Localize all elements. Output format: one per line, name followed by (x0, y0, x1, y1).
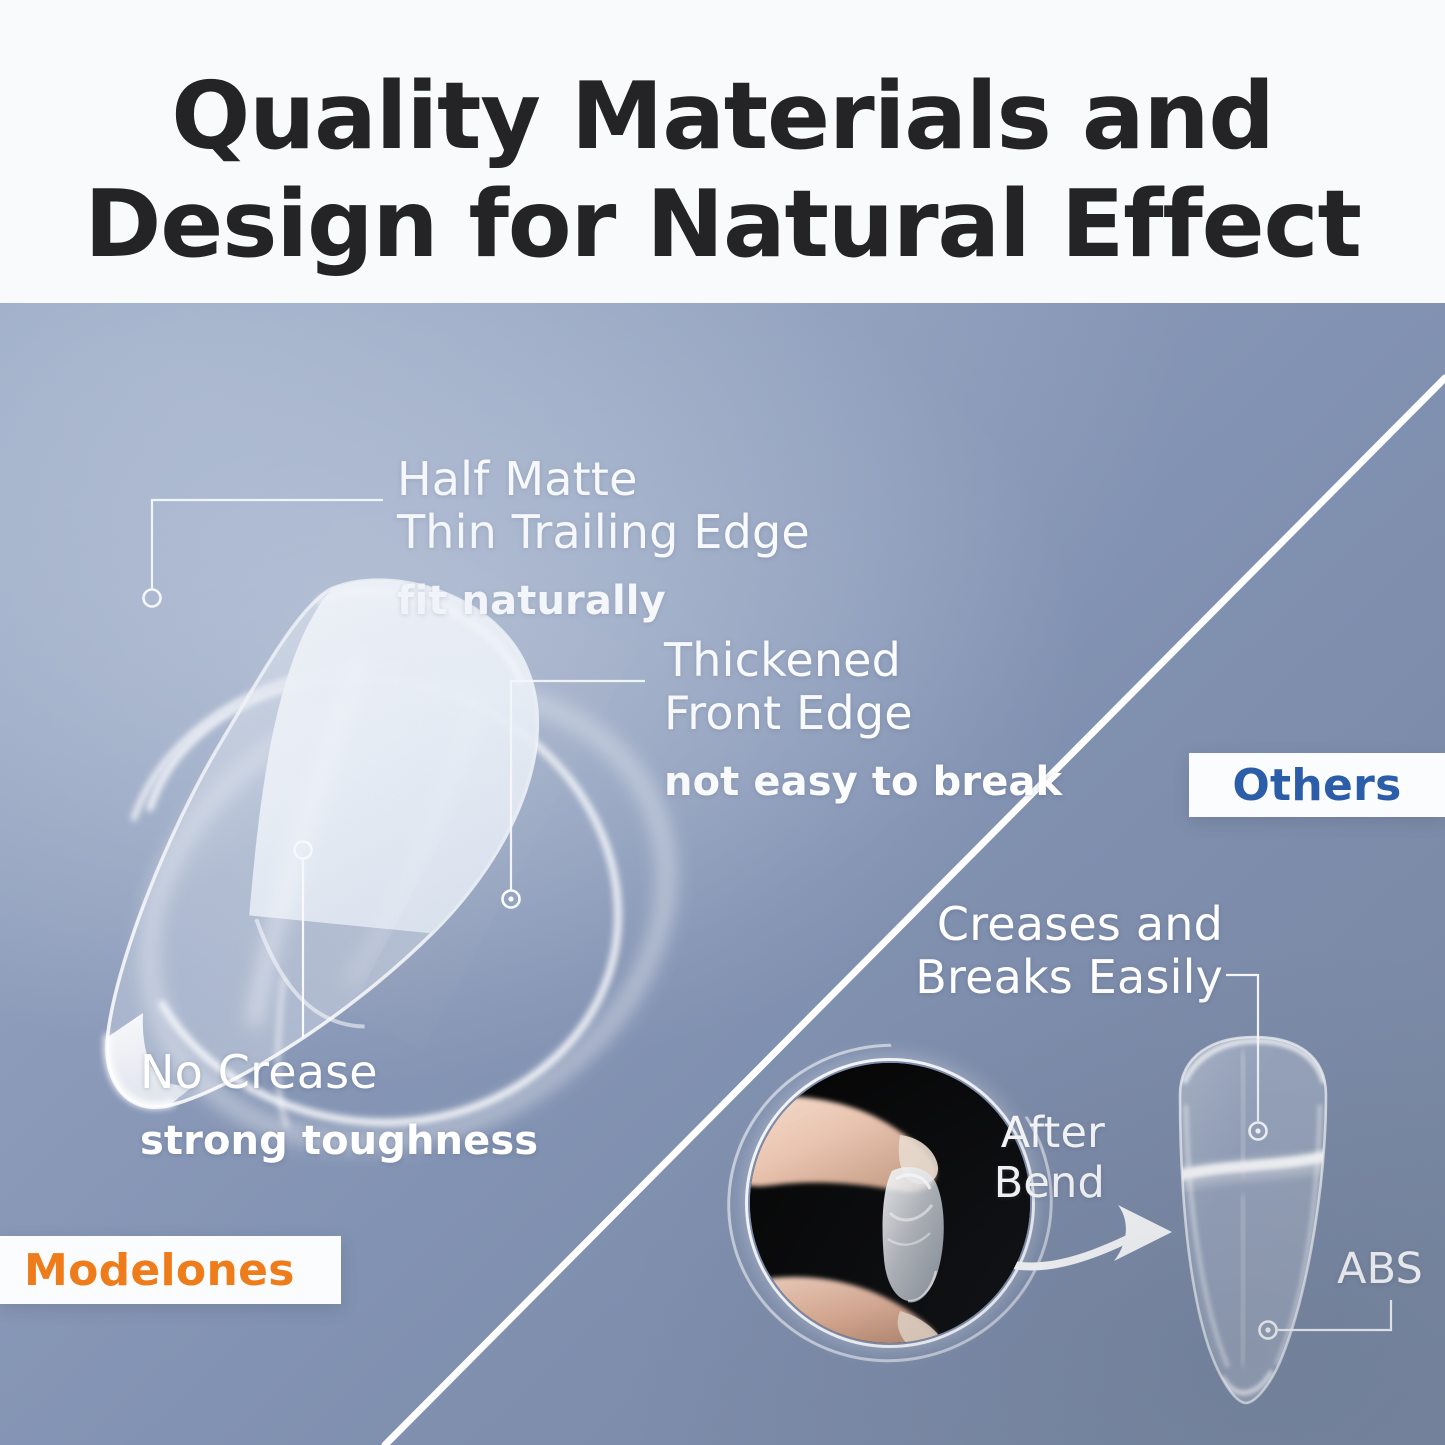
photo-ring-border (745, 1058, 1035, 1348)
callout-no-crease: No Crease strong toughness (140, 1046, 538, 1166)
callout-half-matte: Half Matte Thin Trailing Edge fit natura… (397, 453, 810, 626)
comparison-panel: Half Matte Thin Trailing Edge fit natura… (0, 303, 1445, 1445)
callout-title: No Crease (140, 1046, 538, 1099)
callout-thickened-front-edge: Thickened Front Edge not easy to break (664, 634, 1062, 807)
crease-line (1174, 1155, 1332, 1177)
others-nail-illustration (1150, 1025, 1370, 1425)
others-nail-body (1180, 1037, 1326, 1403)
callout-subtitle: not easy to break (664, 757, 1062, 807)
leader-thickened-front (511, 681, 645, 891)
callout-subtitle: fit naturally (397, 576, 810, 626)
callout-title: ABS (1337, 1243, 1423, 1296)
competitor-badge-label: Others (1232, 760, 1401, 811)
callout-title: Half Matte Thin Trailing Edge (397, 453, 810, 559)
others-nail-svg (1150, 1025, 1370, 1425)
infographic-canvas: Quality Materials and Design for Natural… (0, 0, 1445, 1445)
callout-after-bend: After Bend (994, 1108, 1105, 1208)
callout-abs-material: ABS (1337, 1243, 1423, 1296)
page-title: Quality Materials and Design for Natural… (0, 62, 1445, 278)
competitor-badge-others: Others (1189, 753, 1445, 817)
leader-creases-breaks (1226, 975, 1258, 1121)
leader-half-matte (152, 500, 383, 590)
callout-title: Thickened Front Edge (664, 634, 1062, 740)
leader-abs (1278, 1300, 1391, 1330)
brand-badge-label: Modelones (24, 1245, 295, 1296)
callout-title: Creases and Breaks Easily (915, 898, 1223, 1004)
callout-title: After Bend (994, 1108, 1105, 1208)
callout-subtitle: strong toughness (140, 1116, 538, 1166)
header-band: Quality Materials and Design for Natural… (0, 0, 1445, 303)
callout-creases-breaks-easily: Creases and Breaks Easily (915, 898, 1223, 1004)
bending-demo-photo (745, 1058, 1035, 1348)
brand-badge-modelones: Modelones (0, 1236, 341, 1304)
